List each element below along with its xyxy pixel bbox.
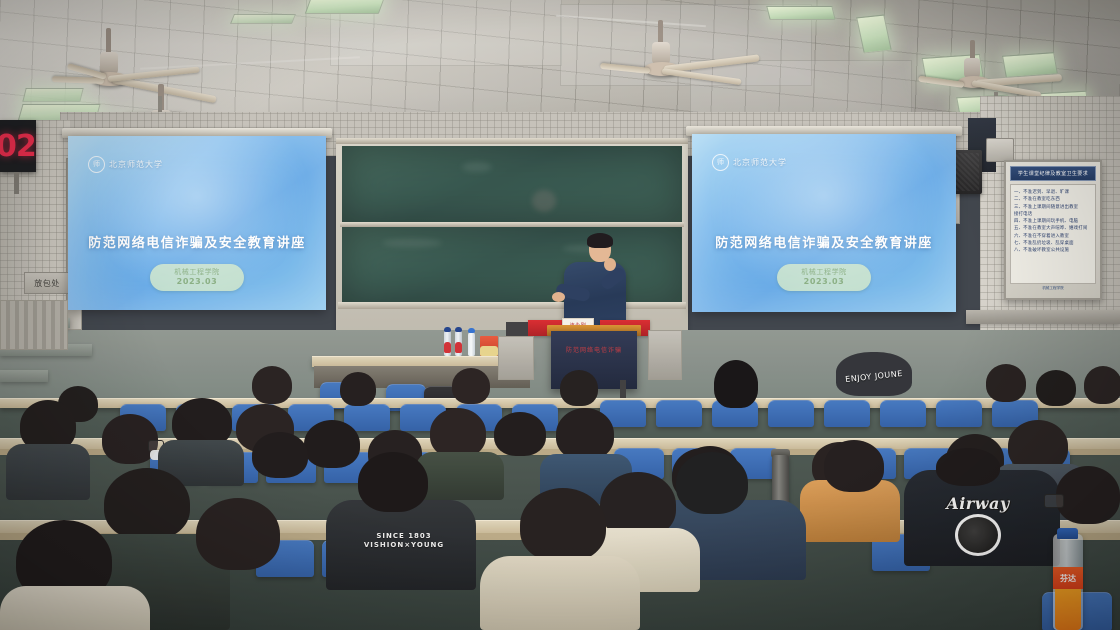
classroom-rules-poster: 学生课堂纪律及教室卫生要求 一、不准迟到、早退、旷课 二、不准在教室吃东西 三、…: [1004, 160, 1102, 300]
fluorescent-light-icon: [230, 14, 296, 24]
slide-badge-date: 2023.03: [150, 277, 244, 287]
seat: [824, 400, 870, 427]
slide-university-name: 北京师范大学: [109, 159, 163, 170]
poster-rule: 七、不准乱扔垃圾、乱穿桌面: [1014, 240, 1092, 247]
snack-box-label: [480, 346, 498, 356]
slide-badge-department: 机械工程学院: [150, 268, 244, 277]
bottle-cap: [455, 327, 462, 332]
slide-badge-right: 机械工程学院 2023.03: [777, 264, 871, 291]
seat: [936, 400, 982, 427]
poster-rule: 四、不准上课期间玩手机、电脑: [1014, 218, 1092, 225]
poster-rule: 二、不准在教室吃东西: [1014, 196, 1092, 203]
podium-monitor: [506, 322, 528, 336]
poster-rule: 接打电话: [1014, 211, 1092, 218]
poster-rule: 三、不准上课期间随意进出教室: [1014, 204, 1092, 211]
slide-title-right: 防范网络电信诈骗及安全教育讲座: [692, 232, 956, 251]
radiator: [0, 300, 68, 350]
slide-logo-right: 师 北京师范大学: [712, 154, 787, 171]
slide-logo-left: 师 北京师范大学: [88, 156, 163, 173]
seat: [880, 400, 926, 427]
jacket-print: SINCE 1803 VISHION×YOUNG: [348, 532, 460, 550]
floor-step: [0, 370, 48, 382]
fluorescent-light-icon: [305, 0, 386, 14]
jacket-print-line2: VISHION×YOUNG: [348, 541, 460, 550]
poster-rule: 一、不准迟到、早退、旷课: [1014, 189, 1092, 196]
airway-circle-icon: [955, 514, 1001, 556]
floor-step: [966, 310, 1120, 324]
fanta-label-text: 芬达: [1060, 573, 1076, 584]
slide-badge-department: 机械工程学院: [777, 268, 871, 277]
bottle-label: [444, 342, 451, 353]
poster-rules-list: 一、不准迟到、早退、旷课 二、不准在教室吃东西 三、不准上课期间随意进出教室 接…: [1010, 184, 1096, 284]
room-number-text: 02: [0, 129, 36, 164]
projection-screen-left: 师 北京师范大学 防范网络电信诈骗及安全教育讲座 机械工程学院 2023.03: [68, 136, 326, 310]
university-seal-icon: 师: [88, 156, 105, 173]
ceiling-fan-icon: [606, 20, 866, 110]
airway-jacket-logo: Airway: [930, 494, 1026, 556]
slide-title-left: 防范网络电信诈骗及安全教育讲座: [68, 232, 326, 251]
podium-banner-text: 防范网络电信诈骗: [551, 345, 637, 354]
poster-header: 学生课堂纪律及教室卫生要求: [1010, 166, 1096, 181]
chalkboard-top-rail: [336, 138, 688, 144]
fanta-bottle-cap: [1057, 528, 1078, 539]
ac-vent-icon: [986, 138, 1014, 162]
chalk-rail: [338, 302, 686, 309]
jacket-print-line1: SINCE 1803: [348, 532, 460, 541]
presenter-hand-left: [552, 292, 565, 302]
fanta-liquid: [1055, 589, 1081, 630]
fanta-label: 芬达: [1053, 567, 1083, 589]
airway-logo-text: Airway: [946, 494, 1009, 513]
poster-rule: 六、不准在不穿着进入教室: [1014, 233, 1092, 240]
presenter-hair: [587, 233, 613, 248]
slide-university-name: 北京师范大学: [733, 157, 787, 168]
poster-rule: 八、不准破坏教室公共设施: [1014, 247, 1092, 254]
sign-post: [14, 172, 19, 194]
bottle-cap: [444, 327, 451, 332]
fluorescent-light-icon: [766, 6, 835, 20]
slide-badge-left: 机械工程学院 2023.03: [150, 264, 244, 291]
glasses-icon: [1044, 494, 1064, 508]
chalkboard-upper: [342, 146, 682, 222]
water-bottle: [468, 332, 475, 356]
bag-area-label: 放包处: [34, 278, 60, 289]
slide-badge-date: 2023.03: [777, 277, 871, 287]
poster-rule: 五、不准在教室大声喧哗、嬉戏打闹: [1014, 225, 1092, 232]
poster-footer: 机械工程学院: [1010, 286, 1096, 291]
seat: [656, 400, 702, 427]
chalkboard-lower: [342, 227, 682, 303]
bottle-label: [455, 342, 462, 353]
lecture-hall-photo: 02 放包处 师 北京师范大学 防范网络电信诈骗及安全教育讲座 机械工程学院 2…: [0, 0, 1120, 630]
podium-cabinet: [498, 336, 534, 380]
bag-area-sign: 放包处: [24, 272, 70, 294]
projection-screen-right: 师 北京师范大学 防范网络电信诈骗及安全教育讲座 机械工程学院 2023.03: [692, 134, 956, 312]
bottle-cap: [468, 328, 475, 333]
podium-cabinet-right: [648, 330, 682, 380]
seat: [768, 400, 814, 427]
room-number-sign: 02: [0, 120, 36, 172]
university-seal-icon: 师: [712, 154, 729, 171]
